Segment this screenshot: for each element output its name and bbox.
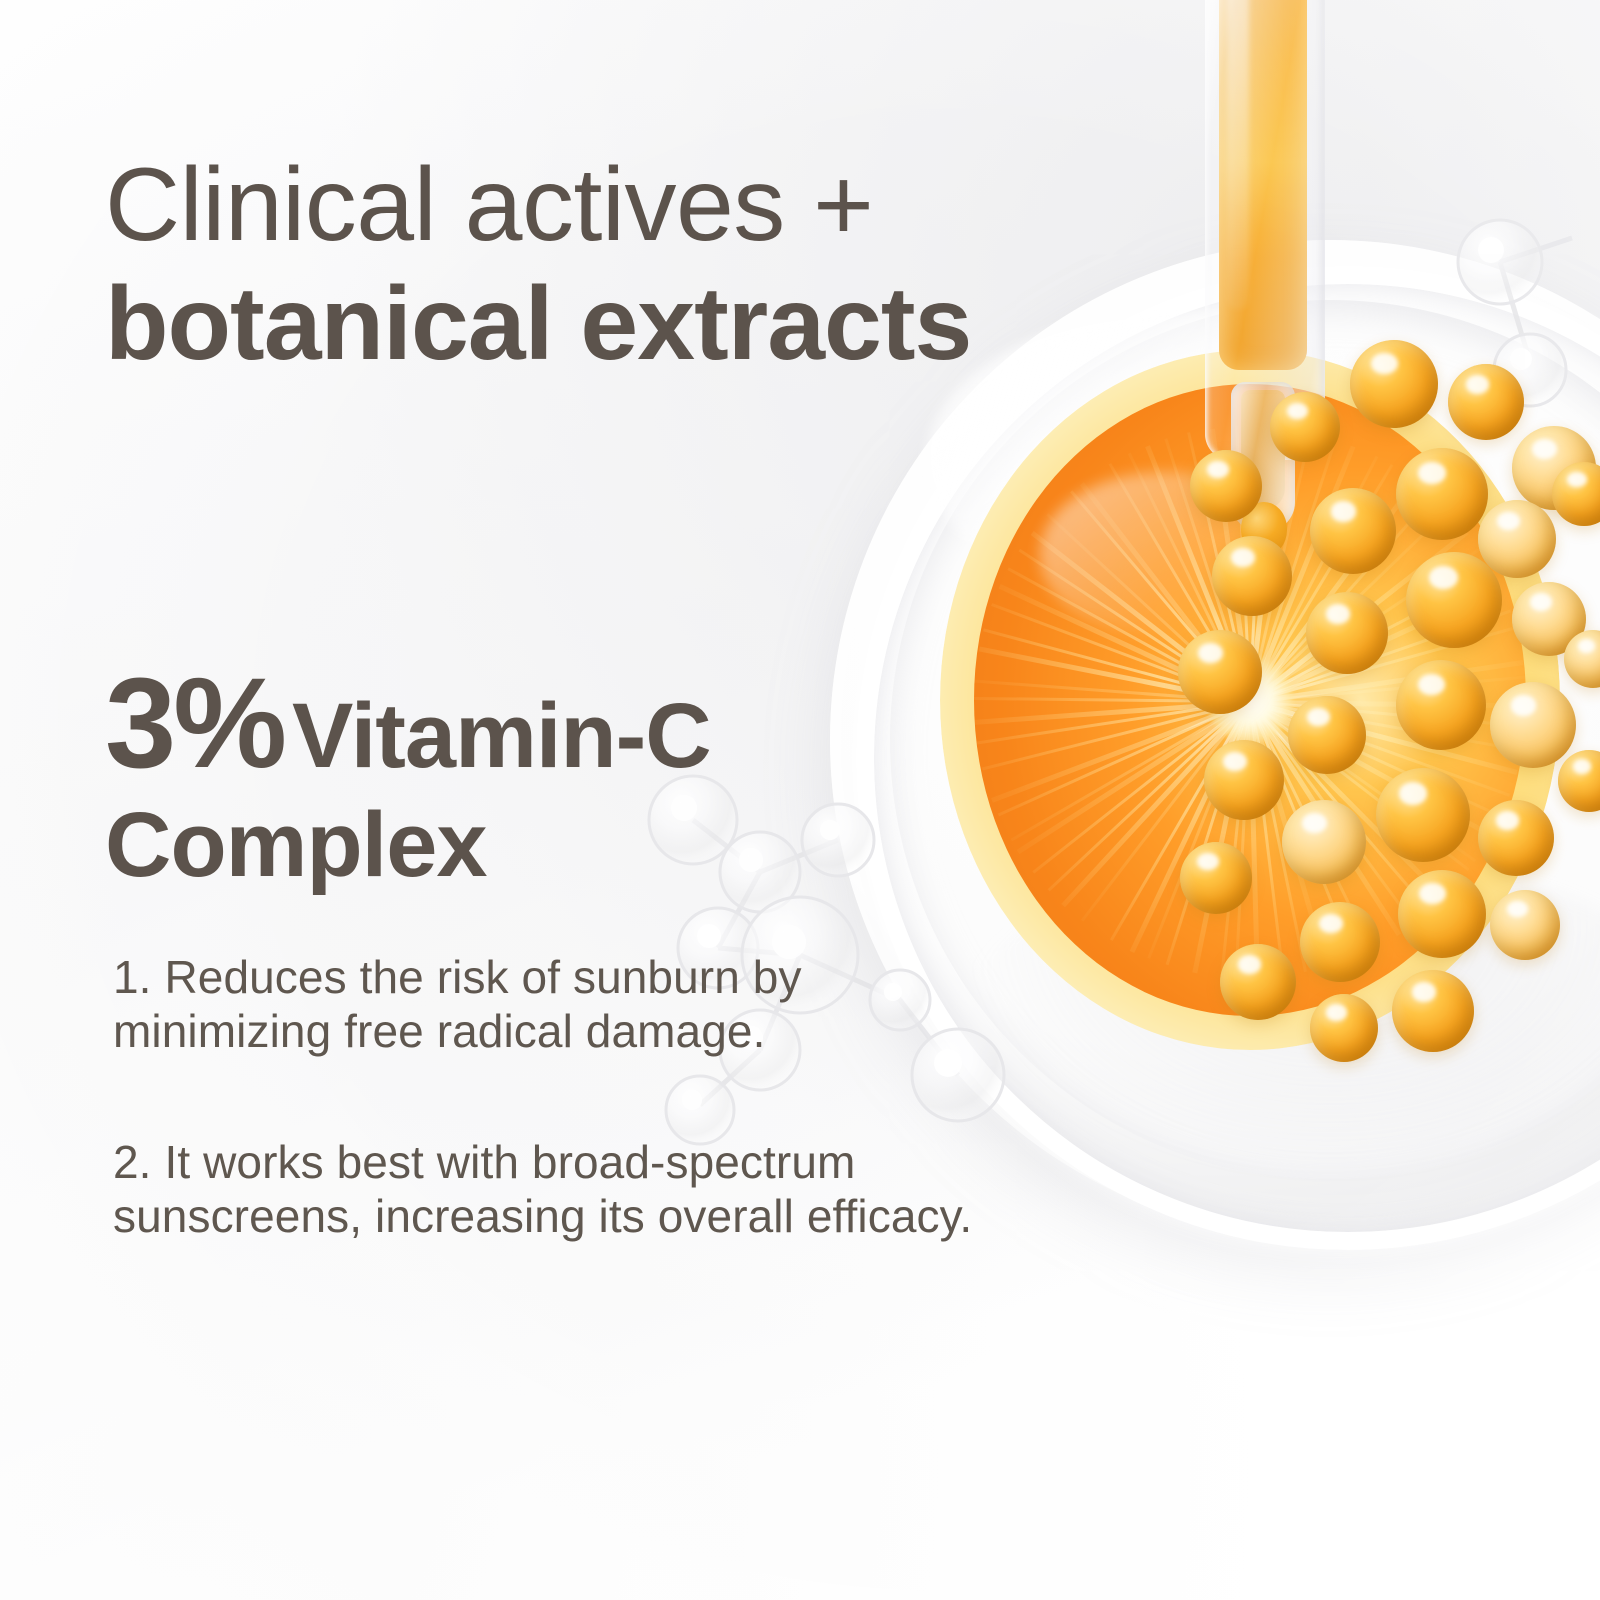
claim-percentage: 3% — [105, 652, 284, 795]
serum-bead — [1396, 448, 1488, 540]
claim-line-2: Complex — [105, 794, 985, 897]
serum-bead — [1306, 592, 1388, 674]
benefit-item: 2. It works best with broad-spectrum sun… — [113, 1135, 993, 1244]
serum-bead — [1180, 842, 1252, 914]
serum-bead — [1190, 450, 1262, 522]
claim-line-1: 3%Vitamin-C — [105, 660, 985, 788]
serum-bead — [1178, 630, 1262, 714]
headline-block: Clinical actives + botanical extracts — [105, 0, 1005, 380]
serum-bead — [1478, 500, 1556, 578]
serum-bead — [1212, 536, 1292, 616]
serum-bead — [1392, 970, 1474, 1052]
serum-bead — [1282, 800, 1366, 884]
serum-bead — [1270, 392, 1340, 462]
serum-bead — [1448, 364, 1524, 440]
serum-bead — [1310, 488, 1396, 574]
serum-bead — [1376, 768, 1470, 862]
serum-bead — [1220, 944, 1296, 1020]
serum-bead — [1300, 902, 1380, 982]
claim-block: 3%Vitamin-C Complex — [105, 660, 985, 897]
serum-bead — [1406, 552, 1502, 648]
serum-bead — [1310, 994, 1378, 1062]
serum-bead — [1288, 696, 1366, 774]
benefit-item: 1. Reduces the risk of sunburn by minimi… — [113, 950, 993, 1059]
serum-bead — [1396, 660, 1486, 750]
serum-bead — [1204, 740, 1284, 820]
serum-bead — [1490, 682, 1576, 768]
headline-line-2: botanical extracts — [105, 268, 1005, 380]
serum-bead — [1490, 890, 1560, 960]
benefits-list: 1. Reduces the risk of sunburn by minimi… — [113, 950, 1013, 1243]
headline-line-1: Clinical actives + — [105, 152, 1005, 258]
claim-ingredient: Vitamin-C — [292, 685, 711, 787]
promo-banner: Clinical actives + botanical extracts 3%… — [0, 0, 1600, 1600]
serum-bead — [1478, 800, 1554, 876]
headline: Clinical actives + botanical extracts — [105, 152, 1005, 380]
serum-bead — [1350, 340, 1438, 428]
serum-bead — [1398, 870, 1486, 958]
